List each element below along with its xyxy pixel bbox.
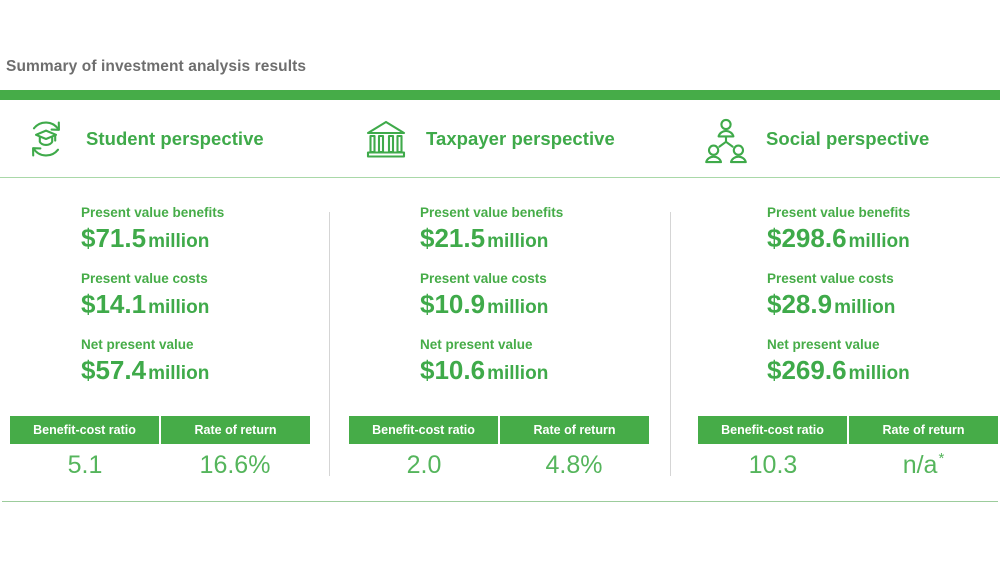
metric-label: Present value costs — [767, 271, 1000, 287]
ratio-value-text: 16.6% — [200, 451, 271, 480]
metric-unit: million — [849, 231, 910, 252]
ratio-table-taxpayer: Benefit-cost ratio Rate of return 2.0 4.… — [349, 416, 649, 486]
ratio-header-rate-of-return: Rate of return — [847, 416, 998, 444]
metric-value: $10.6million — [420, 353, 680, 391]
graduation-cap-cycle-icon — [20, 113, 72, 165]
ratio-header-benefit-cost: Benefit-cost ratio — [10, 416, 159, 444]
metric-label: Present value costs — [81, 271, 340, 287]
ratio-table-header-row: Benefit-cost ratio Rate of return — [349, 416, 649, 444]
metric-amount: $71.5 — [81, 223, 146, 253]
metric-value: $10.9million — [420, 287, 680, 325]
ratio-table-value-row: 10.3 n/a* — [698, 444, 998, 486]
ratio-value-benefit-cost: 2.0 — [349, 444, 499, 486]
ratio-value-rate-of-return: 16.6% — [160, 444, 310, 486]
metric-amount: $14.1 — [81, 289, 146, 319]
metric-present-value-costs: Present value costs $10.9million — [420, 271, 680, 325]
metric-unit: million — [849, 363, 910, 384]
metric-amount: $298.6 — [767, 223, 847, 253]
ratio-value-benefit-cost: 5.1 — [10, 444, 160, 486]
metric-label: Net present value — [81, 337, 340, 353]
metric-label: Present value benefits — [420, 205, 680, 221]
ratio-table-value-row: 2.0 4.8% — [349, 444, 649, 486]
metric-present-value-benefits: Present value benefits $21.5million — [420, 205, 680, 259]
metric-amount: $10.9 — [420, 289, 485, 319]
metric-amount: $28.9 — [767, 289, 832, 319]
header-cell-taxpayer: Taxpayer perspective — [340, 100, 680, 177]
metrics-social: Present value benefits $298.6million Pre… — [680, 177, 1000, 391]
column-taxpayer: Present value benefits $21.5million Pres… — [340, 177, 680, 501]
perspective-header-row: Student perspective Taxpayer perspective — [0, 100, 1000, 177]
header-title-taxpayer: Taxpayer perspective — [426, 128, 615, 150]
metric-unit: million — [148, 363, 209, 384]
metric-value: $298.6million — [767, 221, 1000, 259]
ratio-table-header-row: Benefit-cost ratio Rate of return — [698, 416, 998, 444]
header-title-social: Social perspective — [766, 128, 929, 150]
metric-label: Present value benefits — [767, 205, 1000, 221]
metric-amount: $10.6 — [420, 355, 485, 385]
metric-unit: million — [487, 363, 548, 384]
perspective-columns: Present value benefits $71.5million Pres… — [0, 177, 1000, 501]
metric-amount: $21.5 — [420, 223, 485, 253]
metric-unit: million — [487, 231, 548, 252]
metric-present-value-benefits: Present value benefits $298.6million — [767, 205, 1000, 259]
ratio-value-benefit-cost: 10.3 — [698, 444, 848, 486]
metric-label: Net present value — [767, 337, 1000, 353]
column-student: Present value benefits $71.5million Pres… — [0, 177, 340, 501]
metrics-taxpayer: Present value benefits $21.5million Pres… — [340, 177, 680, 391]
metric-net-present-value: Net present value $269.6million — [767, 337, 1000, 391]
metric-unit: million — [487, 297, 548, 318]
metric-amount: $269.6 — [767, 355, 847, 385]
ratio-value-text: 4.8% — [546, 451, 603, 480]
metric-label: Present value costs — [420, 271, 680, 287]
infographic-page: Summary of investment analysis results S… — [0, 0, 1000, 563]
ratio-table-header-row: Benefit-cost ratio Rate of return — [10, 416, 310, 444]
metric-label: Net present value — [420, 337, 680, 353]
ratio-header-rate-of-return: Rate of return — [498, 416, 649, 444]
ratio-value-rate-of-return: 4.8% — [499, 444, 649, 486]
ratio-header-rate-of-return: Rate of return — [159, 416, 310, 444]
metric-label: Present value benefits — [81, 205, 340, 221]
ratio-table-student: Benefit-cost ratio Rate of return 5.1 16… — [10, 416, 310, 486]
page-title: Summary of investment analysis results — [6, 58, 306, 76]
metric-net-present-value: Net present value $57.4million — [81, 337, 340, 391]
metric-amount: $57.4 — [81, 355, 146, 385]
header-cell-social: Social perspective — [680, 100, 1000, 177]
metric-unit: million — [148, 231, 209, 252]
metric-value: $57.4million — [81, 353, 340, 391]
metrics-student: Present value benefits $71.5million Pres… — [0, 177, 340, 391]
metric-unit: million — [148, 297, 209, 318]
ratio-table-value-row: 5.1 16.6% — [10, 444, 310, 486]
metric-net-present-value: Net present value $10.6million — [420, 337, 680, 391]
ratio-value-text: n/a — [903, 451, 938, 480]
metric-value: $21.5million — [420, 221, 680, 259]
top-accent-bar — [0, 90, 1000, 100]
ratio-table-social: Benefit-cost ratio Rate of return 10.3 n… — [698, 416, 998, 486]
metric-present-value-costs: Present value costs $28.9million — [767, 271, 1000, 325]
header-cell-student: Student perspective — [0, 100, 340, 177]
metric-present-value-costs: Present value costs $14.1million — [81, 271, 340, 325]
metric-present-value-benefits: Present value benefits $71.5million — [81, 205, 340, 259]
metric-value: $71.5million — [81, 221, 340, 259]
bottom-divider-rule — [2, 501, 998, 502]
metric-value: $28.9million — [767, 287, 1000, 325]
people-group-icon — [700, 113, 752, 165]
ratio-value-rate-of-return: n/a* — [848, 444, 998, 486]
bank-building-icon — [360, 113, 412, 165]
metric-value: $269.6million — [767, 353, 1000, 391]
metric-value: $14.1million — [81, 287, 340, 325]
column-social: Present value benefits $298.6million Pre… — [680, 177, 1000, 501]
ratio-header-benefit-cost: Benefit-cost ratio — [349, 416, 498, 444]
ratio-header-benefit-cost: Benefit-cost ratio — [698, 416, 847, 444]
metric-unit: million — [834, 297, 895, 318]
header-title-student: Student perspective — [86, 128, 264, 150]
